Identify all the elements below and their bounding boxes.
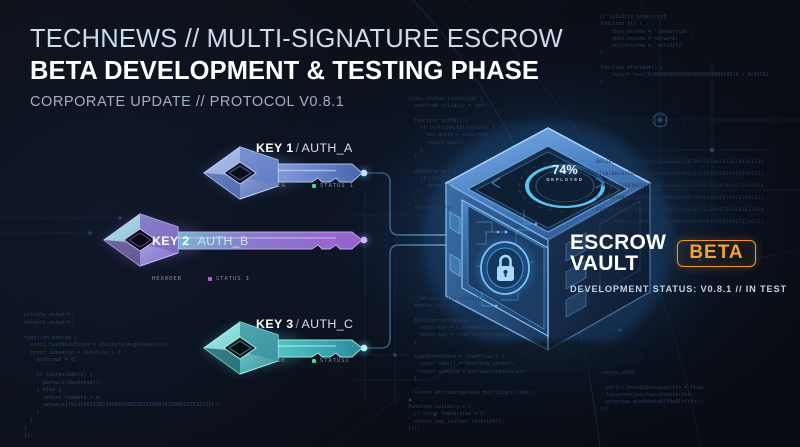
background-code-bottom-right: return sol0; partnr.boundsSuccessority =…: [600, 370, 705, 414]
key-2-meta: HEX0DEB STATUS I: [152, 276, 250, 282]
hex-stream-row: 0110100101101001011010010110100101101001…: [596, 172, 764, 177]
key-3-meta: HEX0D0E STATUSC: [256, 358, 350, 364]
hex-stream-row: 0011011010001110010110100101101001101001…: [596, 160, 764, 165]
background-code-bottom-center: function solidity-r { // const thehardia…: [408, 404, 504, 433]
key-1-label: KEY 1/AUTH_A: [256, 141, 353, 155]
key-1-index: KEY 1: [256, 141, 294, 155]
deploy-gauge-label: 74% DEPLOYED: [521, 163, 609, 182]
lock-emblem: [475, 236, 535, 300]
header-block: TECHNEWS // MULTI-SIGNATURE ESCROW BETA …: [30, 24, 550, 110]
hex-stream-row: 1001011010010110100101101001011010010110…: [596, 184, 764, 189]
key-3-status: STATUSC: [320, 358, 350, 364]
key-2-hex: HEX0DEB: [152, 276, 182, 282]
key-1-auth: AUTH_A: [301, 141, 352, 155]
deploy-gauge-caption: DEPLOYED: [521, 177, 609, 182]
key-1-meta: HEX0DEA STATUS 1: [256, 183, 354, 189]
key-2-status-dot: [208, 277, 212, 281]
deploy-gauge-percent: 74%: [521, 163, 609, 177]
background-code-bottom-left: private network; network network; functi…: [24, 312, 221, 440]
key-2-index: KEY 2: [152, 234, 190, 248]
hex-stream-row: 0101101001011010010110100101101001011010…: [596, 196, 764, 201]
vault-name-line1: ESCROW: [570, 232, 666, 253]
background-code-middle-upper: class status javascript { override solid…: [408, 96, 495, 212]
key-1-status-dot: [312, 184, 316, 188]
vault-info-block: ESCROW VAULT BETA DEVELOPMENT STATUS: V0…: [570, 232, 787, 294]
key-1-hex: HEX0DEA: [256, 183, 286, 189]
key-3-status-dot: [312, 359, 316, 363]
background-code-middle-lower: // re0 maxlimits solidity module solidit…: [408, 296, 534, 398]
key-3-hex: HEX0D0E: [256, 358, 286, 364]
beta-badge: BETA: [677, 240, 755, 266]
vault-status-text: DEVELOPMENT STATUS: V0.8.1 // IN TEST: [570, 284, 787, 294]
hex-stream-row: 0010110100101101001011010010110100101101…: [596, 220, 764, 225]
key-2-label: KEY 2/AUTH_B: [152, 234, 249, 248]
header-kicker: TECHNEWS // MULTI-SIGNATURE ESCROW: [30, 24, 550, 54]
key-3-index: KEY 3: [256, 317, 294, 331]
page-title: BETA DEVELOPMENT & TESTING PHASE: [30, 56, 550, 87]
header-subtitle: CORPORATE UPDATE // PROTOCOL V0.8.1: [30, 94, 550, 110]
hex-stream-row: 1101001011010010110100101101001011010010…: [596, 208, 764, 213]
key-3-auth: AUTH_C: [301, 317, 353, 331]
key-2-status: STATUS I: [216, 276, 250, 282]
background-code-top-right: // solidity javascript function m() { th…: [600, 14, 769, 87]
vault-name-line2: VAULT: [570, 253, 666, 274]
key-3-label: KEY 3/AUTH_C: [256, 317, 353, 331]
infographic-canvas: 0011011010001110010110100101101001101001…: [0, 0, 800, 447]
key-1-status: STATUS 1: [320, 183, 354, 189]
key-2-auth: AUTH_B: [197, 234, 248, 248]
